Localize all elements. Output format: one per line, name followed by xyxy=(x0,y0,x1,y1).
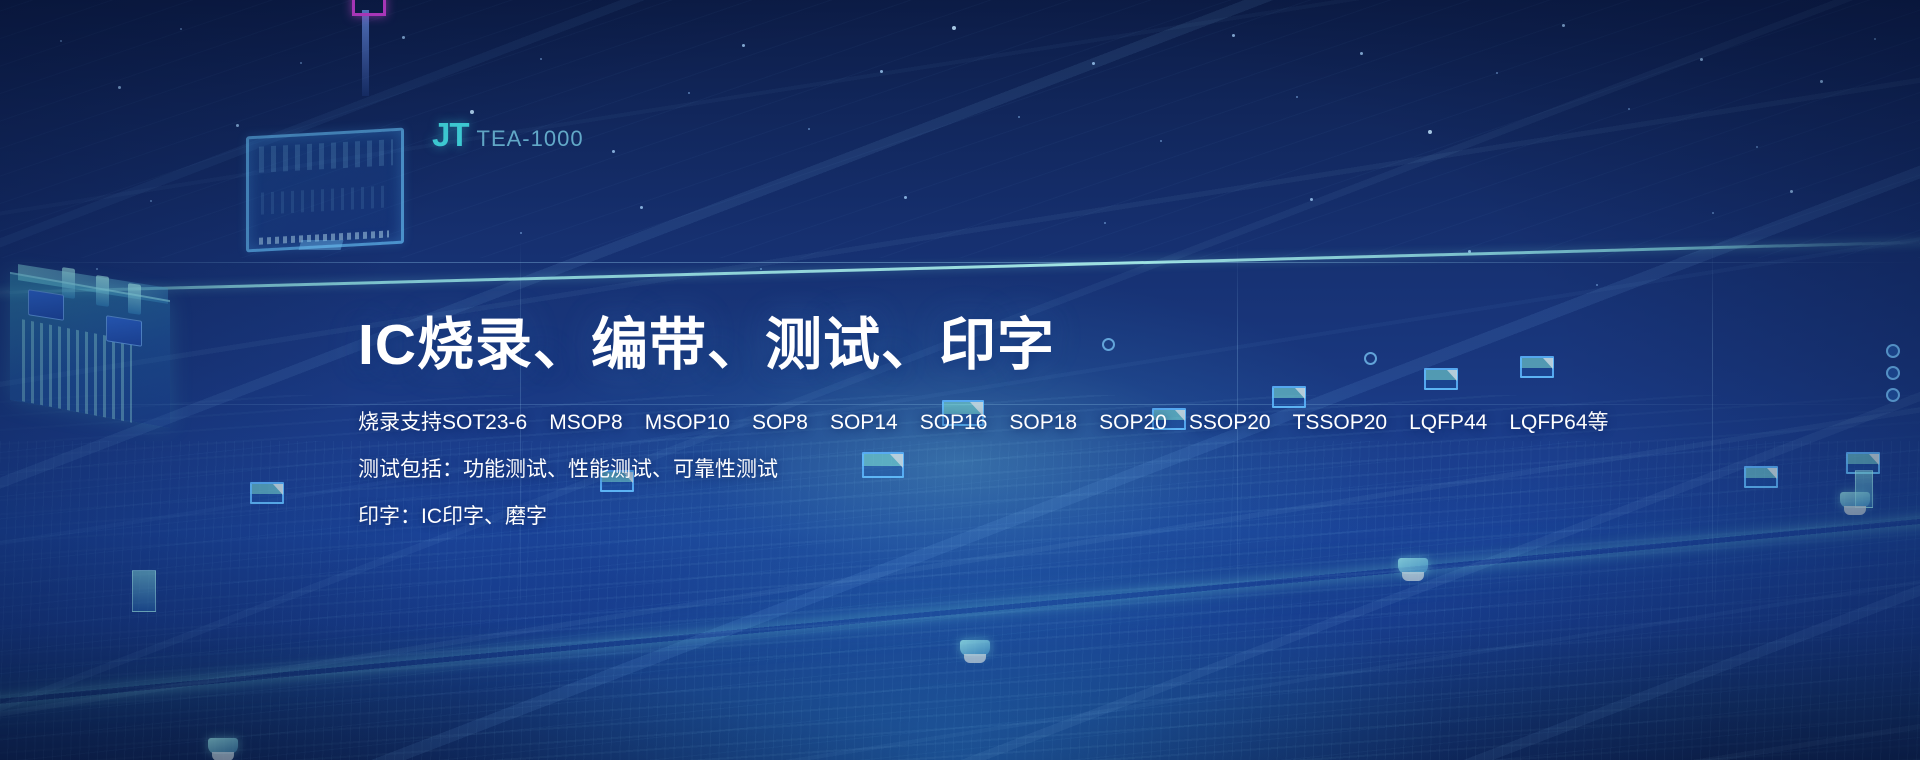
floor-marker-2 xyxy=(960,640,990,656)
machine-model-text: TEA-1000 xyxy=(477,126,584,152)
status-dot-2 xyxy=(1886,366,1900,380)
floor-marker-4 xyxy=(1840,492,1870,508)
banner-copy-block: IC烧录、编带、测试、印字 烧录支持SOT23-6MSOP8MSOP10SOP8… xyxy=(358,312,1658,540)
panel-slab-left xyxy=(132,570,156,612)
magenta-indicator-icon xyxy=(352,0,386,16)
burn-prefix-label: 烧录支持 xyxy=(358,411,442,434)
floor-marker-3 xyxy=(1398,558,1428,574)
structural-column-right xyxy=(1712,240,1713,600)
horizon-rail-upper xyxy=(0,262,1920,263)
service-detail-list: 烧录支持SOT23-6MSOP8MSOP10SOP8SOP14SOP16SOP1… xyxy=(358,399,1658,540)
list-item-burning: 烧录支持SOT23-6MSOP8MSOP10SOP8SOP14SOP16SOP1… xyxy=(358,399,1658,446)
background-ceiling-grid xyxy=(0,0,1920,258)
package-lqfp64: LQFP64等 xyxy=(1509,411,1608,434)
status-dot-1 xyxy=(1886,344,1900,358)
package-sop18: SOP18 xyxy=(1009,411,1077,434)
package-sop20: SOP20 xyxy=(1099,411,1167,434)
ic-service-banner: JT TEA-1000 IC烧录、编带、测试、印字 烧录支持SOT23-6MSO… xyxy=(0,0,1920,760)
status-dot-3 xyxy=(1886,388,1900,402)
package-ssop20: SSOP20 xyxy=(1189,411,1271,434)
package-msop10: MSOP10 xyxy=(645,411,730,434)
page-title: IC烧录、编带、测试、印字 xyxy=(358,312,1658,379)
machine-model-label: JT TEA-1000 xyxy=(432,116,584,154)
list-item-testing: 测试包括：功能测试、性能测试、可靠性测试 xyxy=(358,446,1658,493)
package-msop8: MSOP8 xyxy=(549,411,623,434)
machine-brand-text: JT xyxy=(432,116,469,154)
package-sop14: SOP14 xyxy=(830,411,898,434)
equipment-icon-9 xyxy=(1744,466,1778,488)
package-sop8: SOP8 xyxy=(752,411,808,434)
package-tssop20: TSSOP20 xyxy=(1293,411,1388,434)
package-sot23-6: SOT23-6 xyxy=(442,411,527,434)
floor-marker-1 xyxy=(208,738,238,754)
equipment-icon-1 xyxy=(250,482,284,504)
overhead-arm xyxy=(362,10,369,96)
package-lqfp44: LQFP44 xyxy=(1409,411,1487,434)
list-item-marking: 印字：IC印字、磨字 xyxy=(358,493,1658,540)
package-sop16: SOP16 xyxy=(920,411,988,434)
